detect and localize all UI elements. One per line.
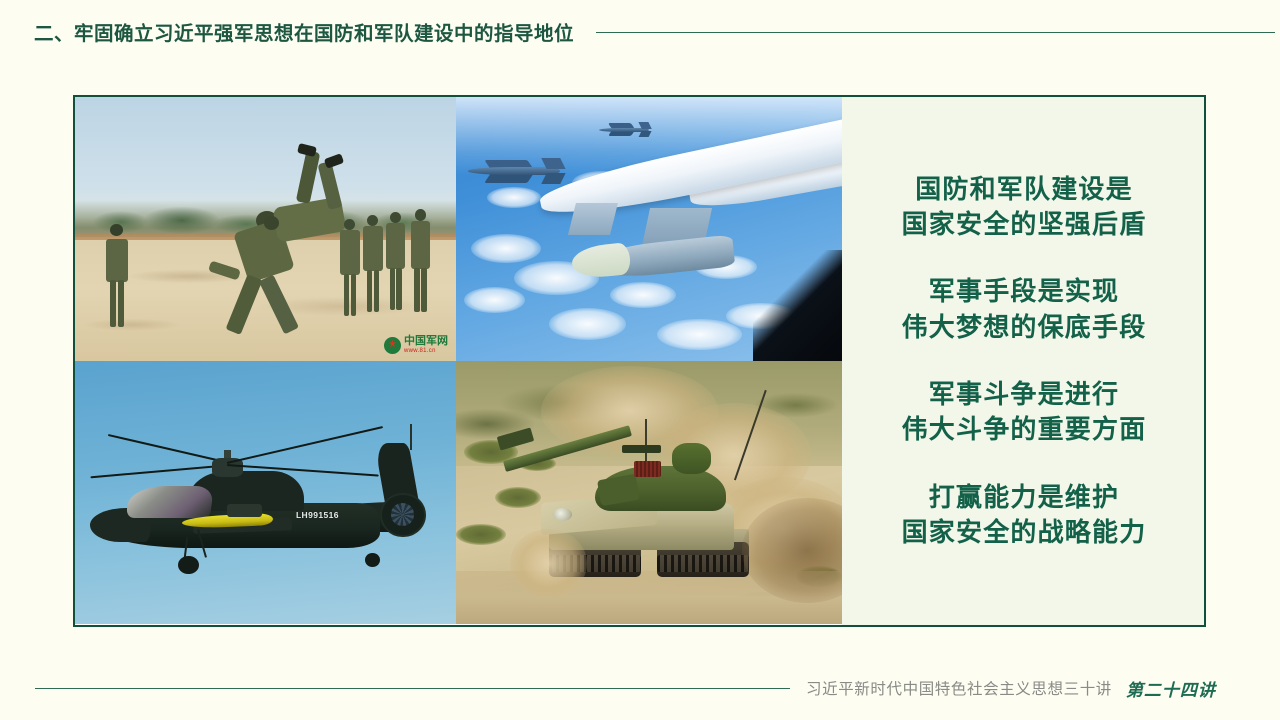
cloud [610,282,676,308]
content-panel: 中国军网 www.81.cn [73,95,1206,627]
fighter-jet-escort-top [599,121,649,139]
photo-bomber-and-fighter-jets [456,97,842,361]
photo-soldiers-combat-training: 中国军网 www.81.cn [75,97,456,361]
photo-watermark: 中国军网 www.81.cn [384,336,448,354]
page-title: 二、牢固确立习近平强军思想在国防和军队建设中的指导地位 [34,17,574,46]
photo-main-battle-tank [456,361,842,624]
military-star-logo-icon [384,337,401,354]
scrub-bush [456,524,506,545]
machine-gun [622,445,661,453]
slogan-2: 军事手段是实现伟大梦想的保底手段 [902,274,1147,345]
cloud [549,308,626,340]
slogan-panel: 国防和军队建设是国家安全的坚强后盾 军事手段是实现伟大梦想的保底手段 军事斗争是… [842,97,1204,625]
cloud [657,319,742,351]
cloud [487,187,541,208]
fighter-jet-escort-left [468,155,561,187]
slogan-1: 国防和军队建设是国家安全的坚强后盾 [902,172,1147,243]
soldier-observer-1 [338,229,363,316]
watermark-url: www.81.cn [404,348,448,354]
cockpit-canopy [126,486,214,518]
slogan-3: 军事斗争是进行伟大斗争的重要方面 [902,377,1147,448]
smoke-grenade-launcher [634,461,661,477]
watermark-label: 中国军网 [404,336,448,347]
fuselage-shadow [753,250,842,361]
photo-grid: 中国军网 www.81.cn [75,97,842,625]
footer-lesson-number: 第二十四讲 [1126,676,1216,701]
soldier-observer-3 [384,222,409,309]
rotor-blade [227,426,383,464]
footer-book-title: 习近平新时代中国特色社会主义思想三十讲 [806,677,1112,699]
title-divider-line [596,32,1275,33]
cloud [471,234,540,263]
wing-pylon-inner [568,203,618,235]
dust-cloud [510,529,587,597]
footer-divider-line [35,688,790,689]
slide-footer: 习近平新时代中国特色社会主义思想三十讲 第二十四讲 [0,672,1280,704]
soldier-standing-left [102,237,132,327]
helicopter-tail-code: LH991516 [296,510,339,520]
rotor-blade [108,434,227,464]
front-landing-wheel [178,556,199,574]
photo-attack-helicopter: LH991516 [75,361,456,624]
soldier-observer-4 [408,220,433,312]
slogan-4: 打赢能力是维护国家安全的战略能力 [902,480,1147,551]
cloud [464,287,526,313]
rear-landing-wheel [365,553,380,567]
commander-cupola [672,443,711,475]
tail-antenna [410,424,411,450]
sensor-turret [227,504,261,517]
fenestron-tail-rotor [380,493,426,538]
soldier-observer-2 [361,225,386,312]
scrub-bush [495,487,541,508]
slide-header: 二、牢固确立习近平强军思想在国防和军队建设中的指导地位 [0,14,1280,48]
